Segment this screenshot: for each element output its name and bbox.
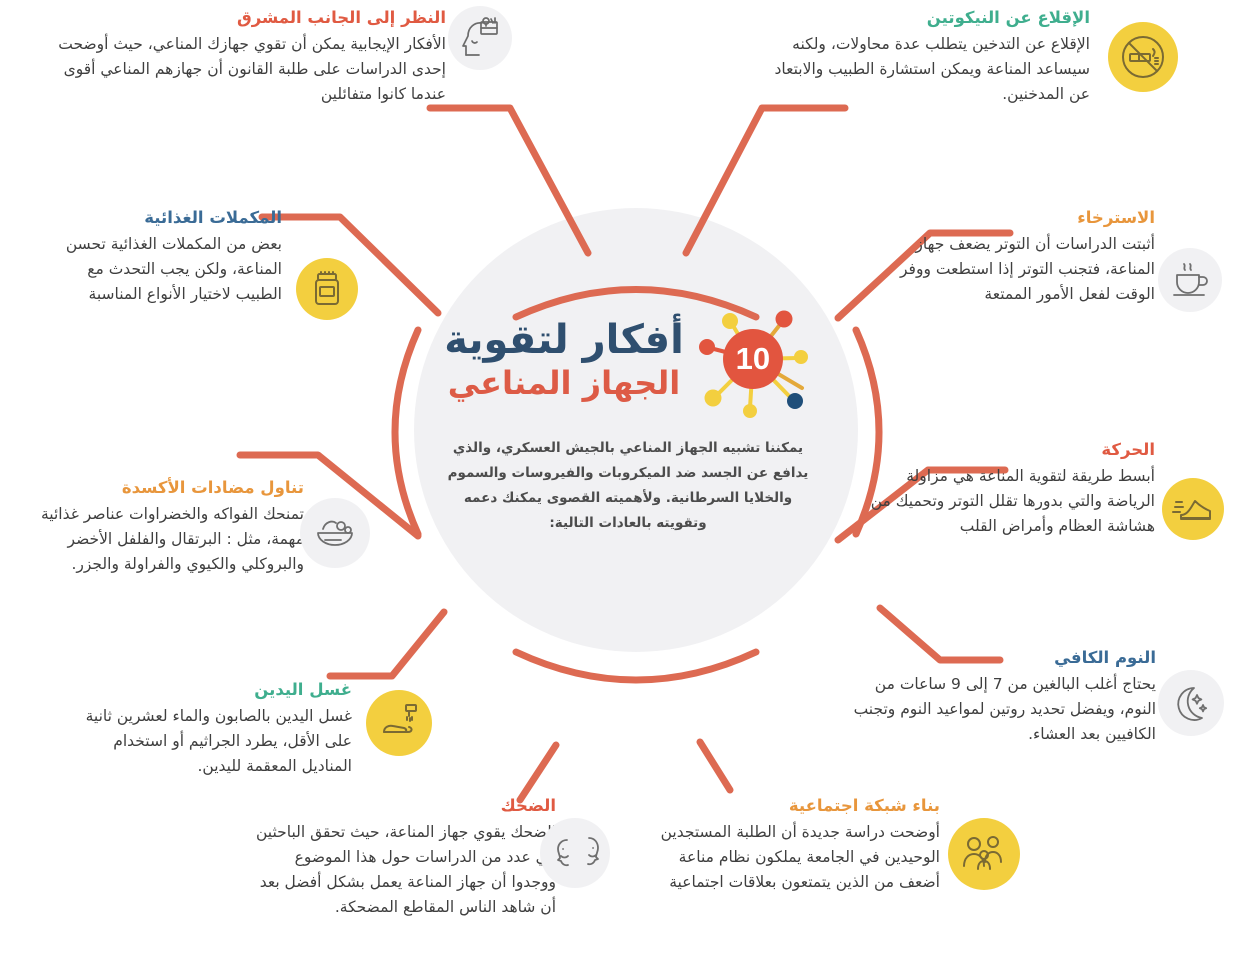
running-shoe-icon (1162, 478, 1224, 540)
node-heading-laughter: الضحك (256, 796, 556, 816)
node-relaxation: الاسترخاء أثبتت الدراسات أن التوتر يضعف … (870, 208, 1155, 307)
node-heading-quit-nicotine: الإقلاع عن النيكوتين (760, 8, 1090, 28)
node-body-supplements: بعض من المكملات الغذائية تحسن المناعة، و… (52, 232, 282, 307)
node-heading-antioxidants: تناول مضادات الأكسدة (24, 478, 304, 498)
laughing-faces-icon (540, 818, 610, 888)
node-heading-enough-sleep: النوم الكافي (838, 648, 1156, 668)
node-social-network: بناء شبكة اجتماعية أوضحت دراسة جديدة أن … (640, 796, 940, 895)
ten-number: 10 (723, 329, 783, 389)
node-body-relaxation: أثبتت الدراسات أن التوتر يضعف جهاز المنا… (870, 232, 1155, 307)
node-heading-relaxation: الاسترخاء (870, 208, 1155, 228)
node-laughter: الضحك الضحك يقوي جهاز المناعة، حيث تحقق … (256, 796, 556, 920)
node-quit-nicotine: الإقلاع عن النيكوتين الإقلاع عن التدخين … (760, 8, 1090, 107)
moon-stars-icon (1158, 670, 1224, 736)
family-group-icon (948, 818, 1020, 890)
head-ideas-icon (448, 6, 512, 70)
node-body-quit-nicotine: الإقلاع عن التدخين يتطلب عدة محاولات، ول… (760, 32, 1090, 107)
salad-bowl-icon (300, 498, 370, 568)
center-title-sub: الجهاز المناعي (444, 365, 684, 402)
node-heading-positive-thinking: النظر إلى الجانب المشرق (26, 8, 446, 28)
node-body-laughter: الضحك يقوي جهاز المناعة، حيث تحقق الباحث… (256, 820, 556, 920)
node-body-social-network: أوضحت دراسة جديدة أن الطلبة المستجدين ال… (640, 820, 940, 895)
center-title-block: 10 أفكار لتقوية الجهاز المناعي يمكننا تش… (418, 300, 838, 536)
node-supplements: المكملات الغذائية بعض من المكملات الغذائ… (52, 208, 282, 307)
node-heading-supplements: المكملات الغذائية (52, 208, 282, 228)
node-movement: الحركة أبسط طريقة لتقوية المناعة هي مزاو… (860, 440, 1155, 539)
supplement-bottle-icon (296, 258, 358, 320)
node-antioxidants: تناول مضادات الأكسدة تمنحك الفواكه والخض… (24, 478, 304, 577)
node-heading-social-network: بناء شبكة اجتماعية (640, 796, 940, 816)
node-heading-movement: الحركة (860, 440, 1155, 460)
node-enough-sleep: النوم الكافي يحتاج أغلب البالغين من 7 إل… (838, 648, 1156, 747)
node-body-movement: أبسط طريقة لتقوية المناعة هي مزاولة الري… (860, 464, 1155, 539)
node-body-hand-washing: غسل اليدين بالصابون والماء لعشرين ثانية … (62, 704, 352, 779)
node-hand-washing: غسل اليدين غسل اليدين بالصابون والماء لع… (62, 680, 352, 779)
ten-burst-icon: 10 (694, 300, 812, 418)
node-heading-hand-washing: غسل اليدين (62, 680, 352, 700)
node-body-enough-sleep: يحتاج أغلب البالغين من 7 إلى 9 ساعات من … (838, 672, 1156, 747)
node-body-positive-thinking: الأفكار الإيجابية يمكن أن تقوي جهازك الم… (26, 32, 446, 107)
infographic-canvas: 10 أفكار لتقوية الجهاز المناعي يمكننا تش… (0, 0, 1242, 963)
center-title-main: أفكار لتقوية (444, 317, 684, 363)
tea-cup-icon (1158, 248, 1222, 312)
hand-wash-icon (366, 690, 432, 756)
node-positive-thinking: النظر إلى الجانب المشرق الأفكار الإيجابي… (26, 8, 446, 107)
node-body-antioxidants: تمنحك الفواكه والخضراوات عناصر غذائية مه… (24, 502, 304, 577)
center-description: يمكننا تشبيه الجهاز المناعي بالجيش العسك… (418, 436, 838, 536)
no-smoking-icon (1108, 22, 1178, 92)
